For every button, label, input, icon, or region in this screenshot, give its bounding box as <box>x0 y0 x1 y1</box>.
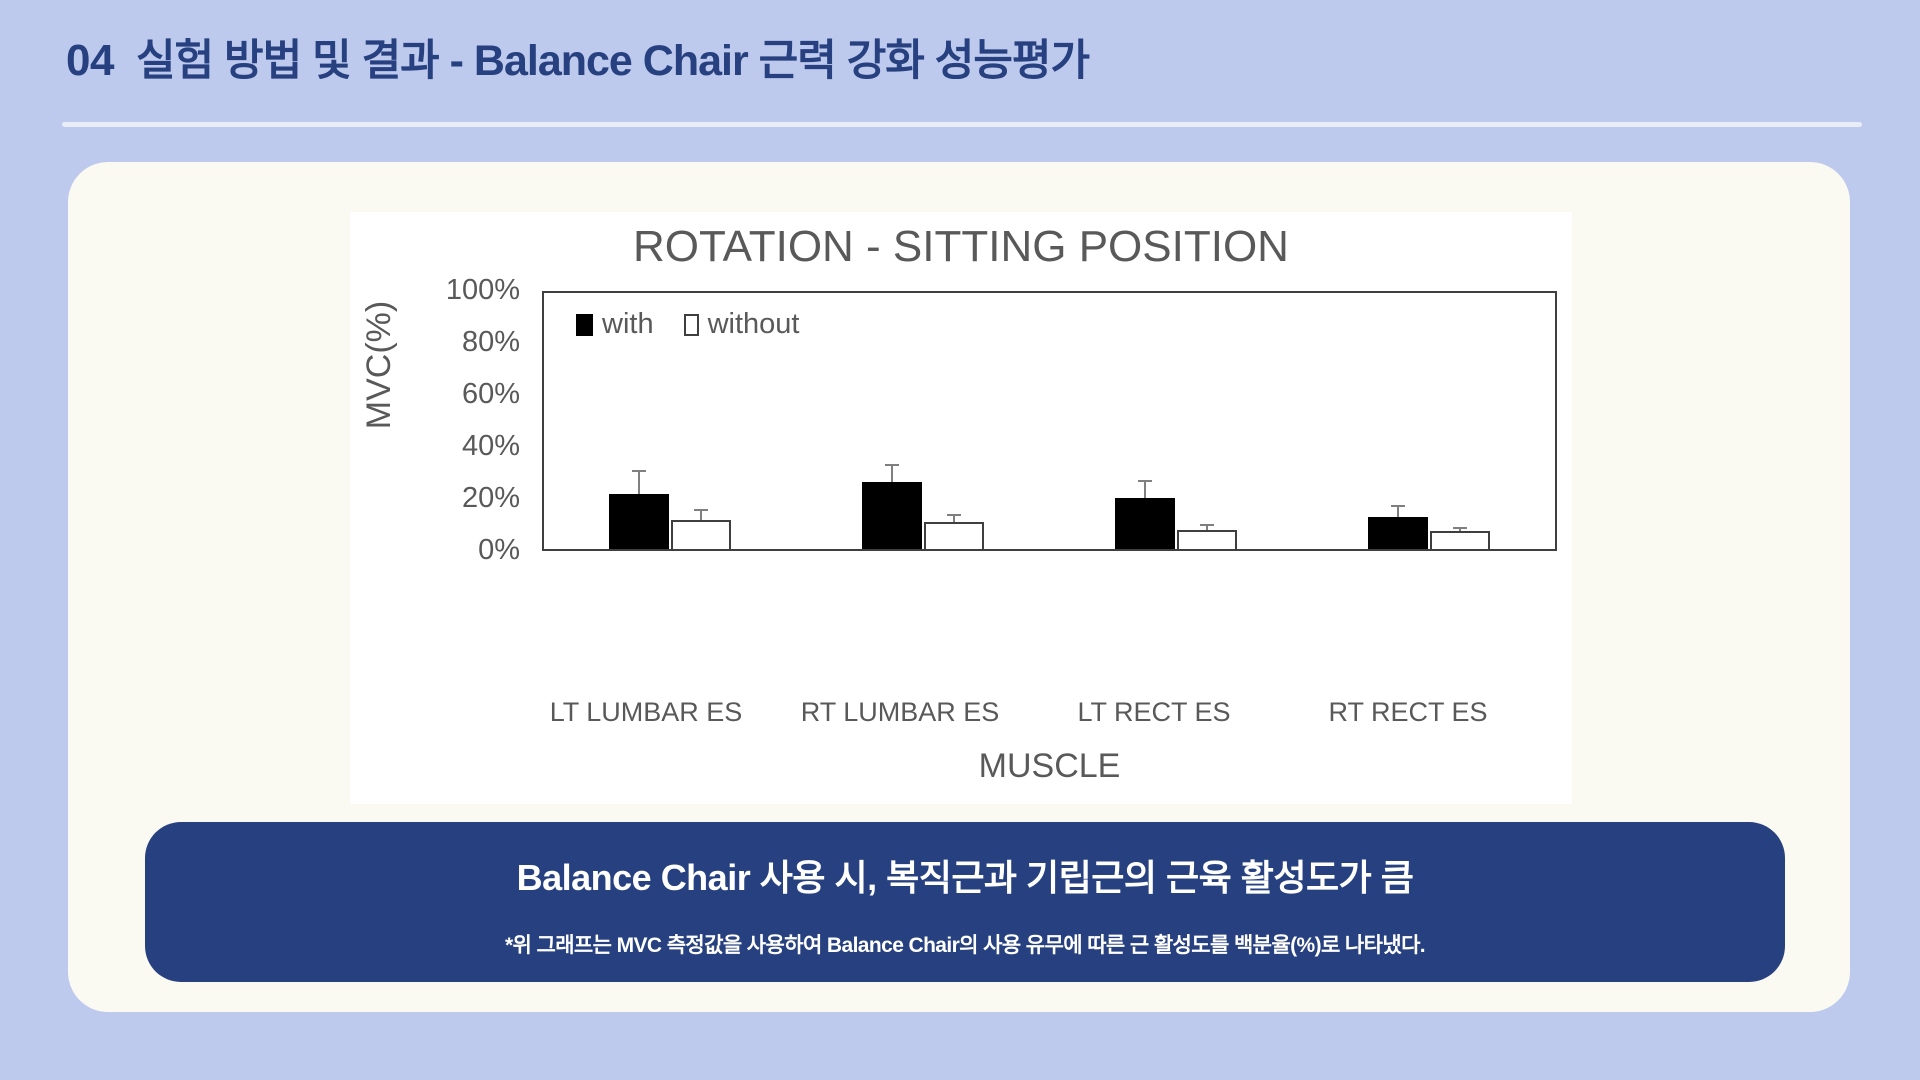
chart-y-axis-label: MVC(%) <box>360 285 400 445</box>
error-bar-stem <box>891 466 893 483</box>
error-bar-cap <box>885 464 899 466</box>
chart-title: ROTATION - SITTING POSITION <box>350 222 1572 272</box>
error-bar-cap <box>947 514 961 516</box>
slide-root: 04 실험 방법 및 결과 - Balance Chair 근력 강화 성능평가… <box>0 0 1920 1080</box>
error-bar-stem <box>1144 482 1146 497</box>
bar-lt-rect-es-without <box>1177 530 1237 549</box>
bar-lt-lumbar-es-without <box>671 520 731 549</box>
title-divider <box>62 122 1862 127</box>
y-tick-60: 60% <box>410 378 520 411</box>
error-bar-stem <box>1397 507 1399 517</box>
chart-plot-area: with without <box>542 291 1557 551</box>
y-tick-20: 20% <box>410 482 520 515</box>
error-bar-stem <box>700 511 702 520</box>
banner-note: *위 그래프는 MVC 측정값을 사용하여 Balance Chair의 사용 … <box>505 929 1425 959</box>
error-bar-stem <box>953 516 955 522</box>
error-bar-stem <box>1206 526 1208 530</box>
bar-lt-rect-es-with <box>1115 498 1175 549</box>
bar-rt-rect-es-without <box>1430 531 1490 549</box>
section-title: 실험 방법 및 결과 - Balance Chair 근력 강화 성능평가 <box>136 26 1089 88</box>
banner-headline: Balance Chair 사용 시, 복직근과 기립근의 근육 활성도가 큼 <box>517 849 1414 901</box>
x-tick-lt-rect-es: LT RECT ES <box>1024 697 1284 728</box>
error-bar-cap <box>1453 527 1467 529</box>
error-bar-stem <box>638 472 640 494</box>
y-tick-100: 100% <box>410 274 520 307</box>
error-bar-cap <box>1200 524 1214 526</box>
section-number: 04 <box>66 36 114 86</box>
y-tick-40: 40% <box>410 430 520 463</box>
slide-header: 04 실험 방법 및 결과 - Balance Chair 근력 강화 성능평가 <box>0 0 1920 140</box>
error-bar-cap <box>632 470 646 472</box>
error-bar-cap <box>1138 480 1152 482</box>
y-tick-0: 0% <box>410 534 520 567</box>
page-title: 04 실험 방법 및 결과 - Balance Chair 근력 강화 성능평가 <box>66 26 1089 88</box>
y-tick-80: 80% <box>410 326 520 359</box>
error-bar-stem <box>1459 529 1461 532</box>
bar-rt-lumbar-es-with <box>862 482 922 549</box>
chart-x-axis-label: MUSCLE <box>542 747 1557 786</box>
error-bar-cap <box>1391 505 1405 507</box>
bar-rt-rect-es-with <box>1368 517 1428 549</box>
x-tick-lt-lumbar-es: LT LUMBAR ES <box>516 697 776 728</box>
bar-lt-lumbar-es-with <box>609 494 669 549</box>
bar-rt-lumbar-es-without <box>924 522 984 549</box>
x-tick-rt-rect-es: RT RECT ES <box>1278 697 1538 728</box>
x-tick-rt-lumbar-es: RT LUMBAR ES <box>770 697 1030 728</box>
chart-bars-layer <box>544 293 1555 549</box>
conclusion-banner: Balance Chair 사용 시, 복직근과 기립근의 근육 활성도가 큼 … <box>145 822 1785 982</box>
error-bar-cap <box>694 509 708 511</box>
